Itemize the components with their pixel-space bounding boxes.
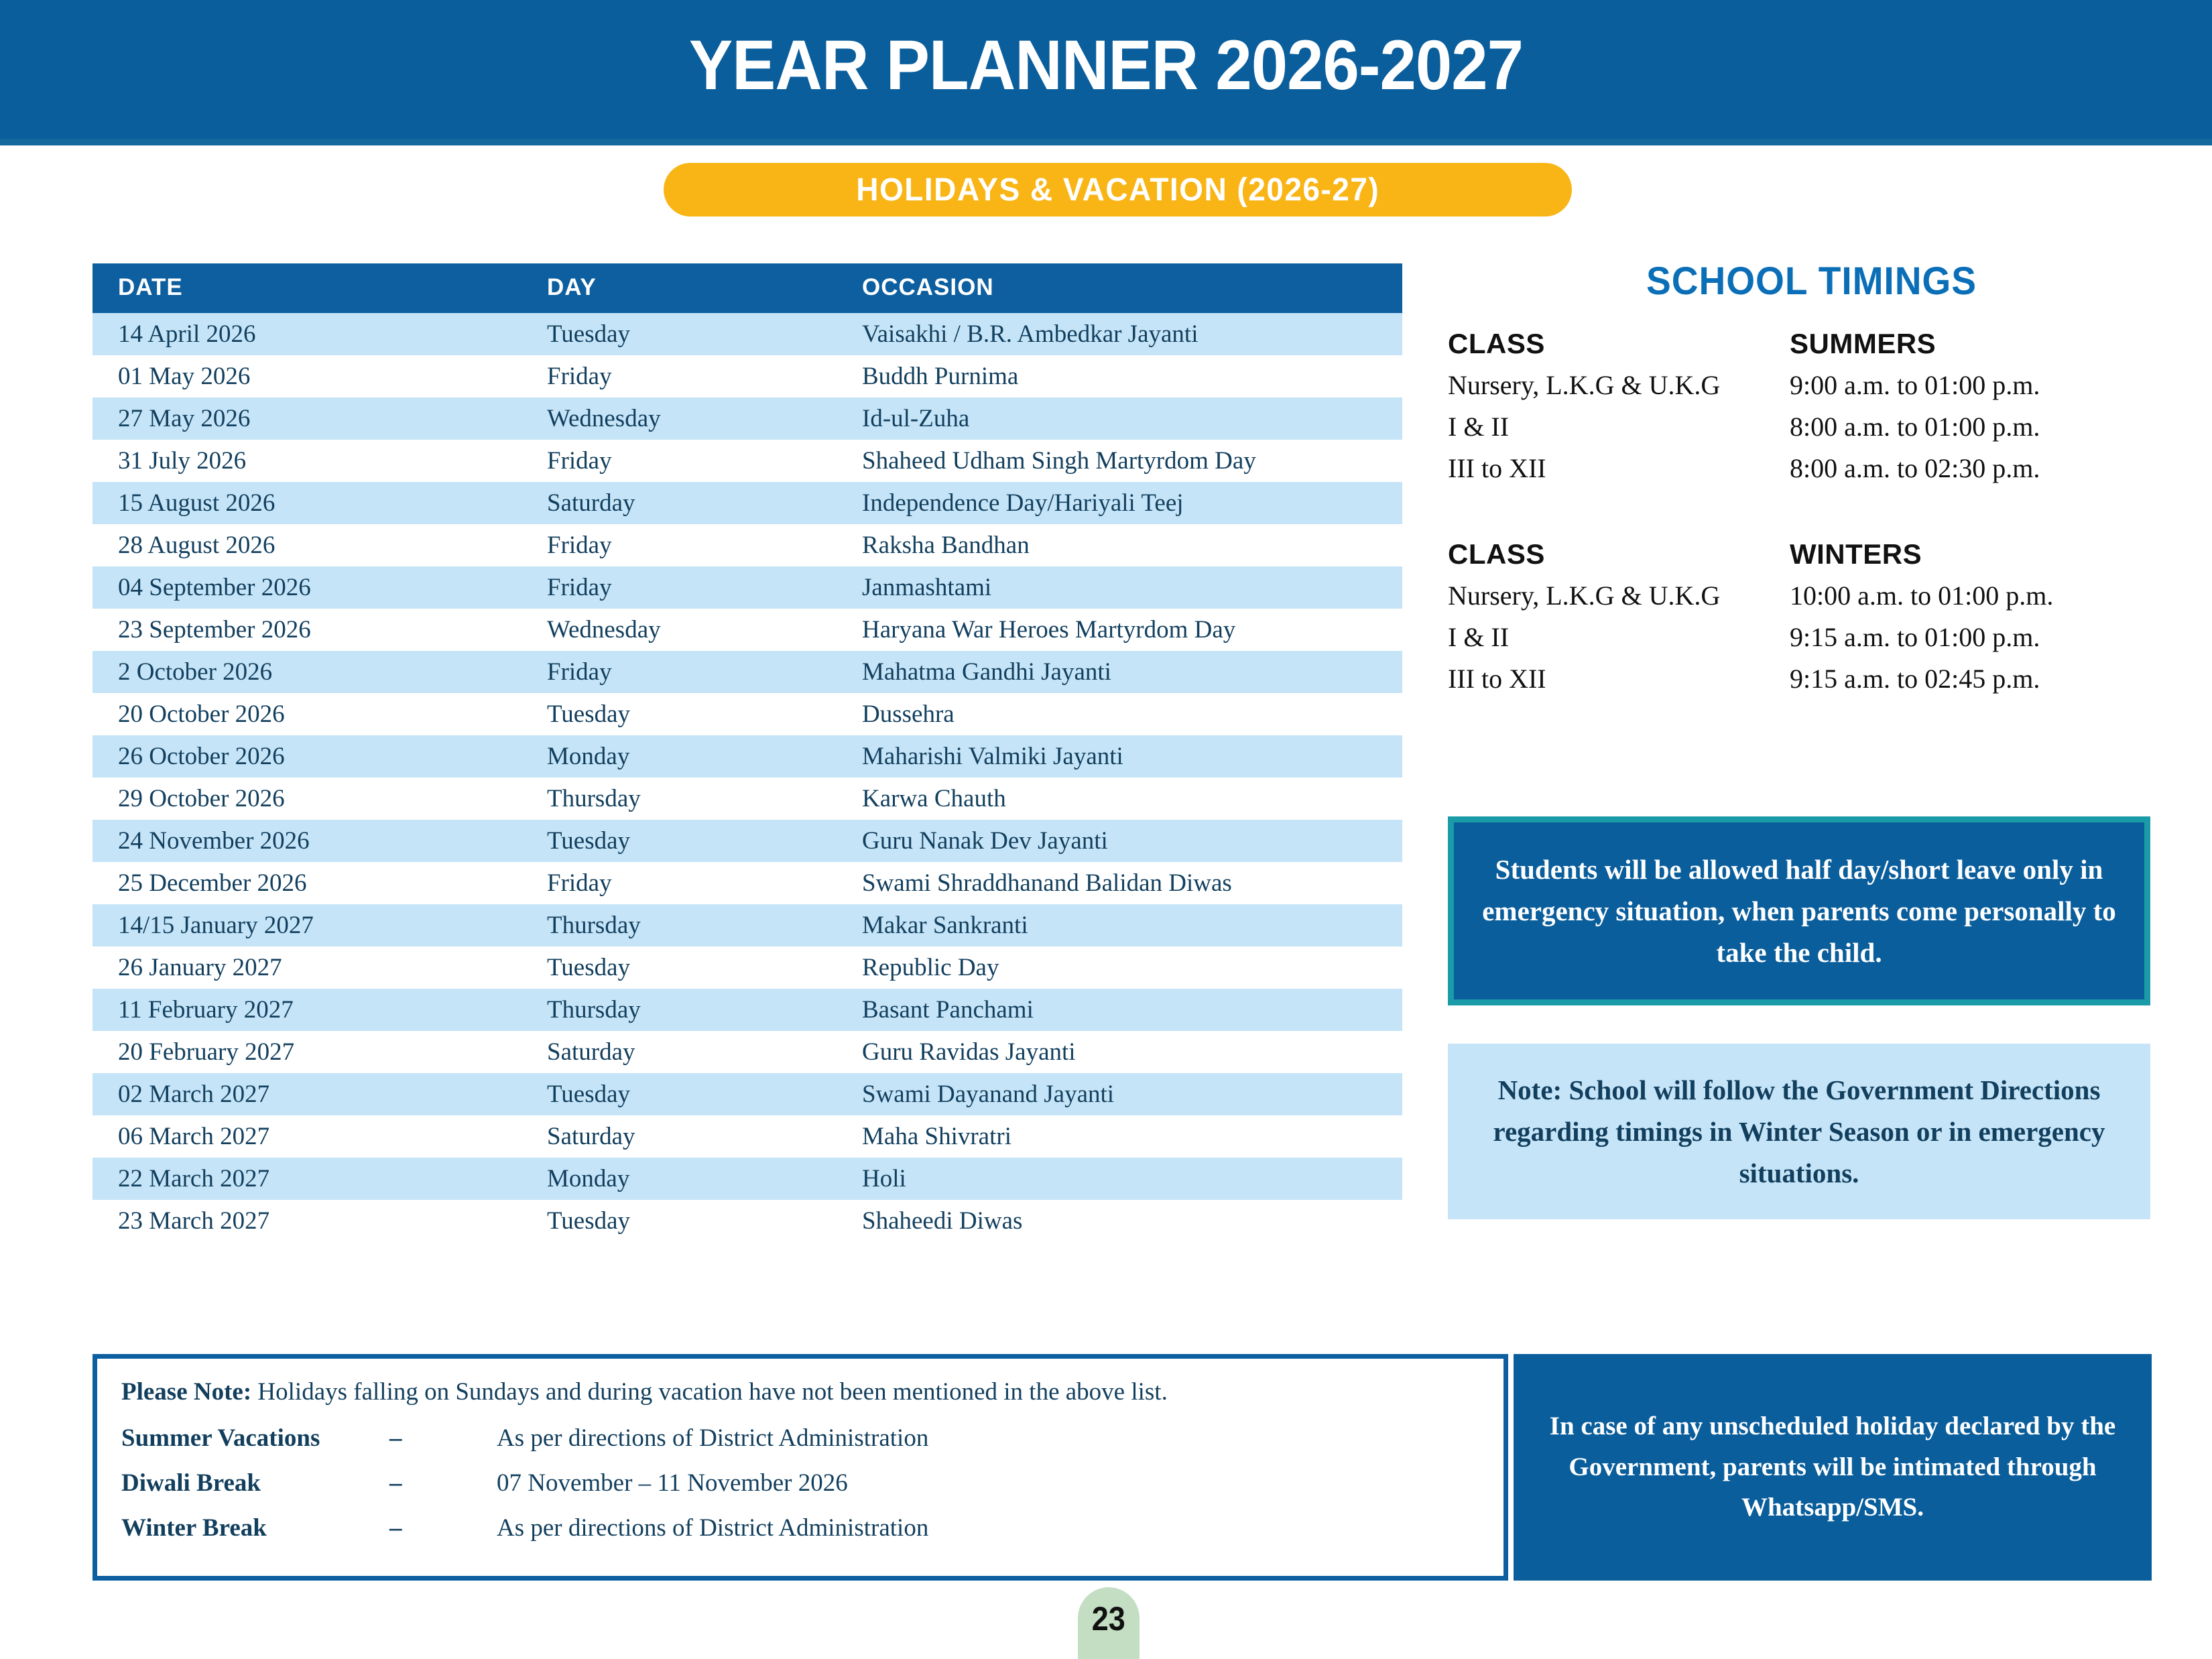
- cell-occasion: Janmashtami: [837, 566, 1402, 609]
- cell-date: 23 March 2027: [93, 1200, 521, 1242]
- cell-day: Thursday: [521, 989, 837, 1031]
- table-row: 22 March 2027MondayHoli: [93, 1158, 1402, 1200]
- cell-day: Monday: [521, 1158, 837, 1200]
- cell-day: Thursday: [521, 778, 837, 820]
- section-pill: HOLIDAYS & VACATION (2026-27): [664, 163, 1572, 217]
- table-row: 15 August 2026SaturdayIndependence Day/H…: [93, 482, 1402, 524]
- cell-day: Tuesday: [521, 946, 837, 989]
- cell-date: 28 August 2026: [93, 524, 521, 566]
- government-note-text: Note: School will follow the Government …: [1479, 1069, 2119, 1194]
- winters-header-row: CLASS WINTERS: [1448, 538, 2175, 580]
- cell-date: 24 November 2026: [93, 820, 521, 862]
- cell-day: Friday: [521, 355, 837, 397]
- summers-row: I & II 8:00 a.m. to 01:00 p.m.: [1448, 411, 2175, 452]
- table-row: 11 February 2027ThursdayBasant Panchami: [93, 989, 1402, 1031]
- half-day-note-box: Students will be allowed half day/short …: [1448, 816, 2150, 1005]
- summers-header-row: CLASS SUMMERS: [1448, 328, 2175, 369]
- table-row: 26 January 2027TuesdayRepublic Day: [93, 946, 1402, 989]
- winters-class-1: I & II: [1448, 622, 1509, 652]
- cell-occasion: Buddh Purnima: [837, 355, 1402, 397]
- cell-day: Tuesday: [521, 693, 837, 735]
- cell-occasion: Holi: [837, 1158, 1402, 1200]
- cell-occasion: Shaheedi Diwas: [837, 1200, 1402, 1242]
- cell-occasion: Swami Dayanand Jayanti: [837, 1073, 1402, 1115]
- summers-class-0: Nursery, L.K.G & U.K.G: [1448, 370, 1720, 400]
- cell-date: 2 October 2026: [93, 651, 521, 693]
- page-title: YEAR PLANNER 2026-2027: [78, 25, 2135, 106]
- cell-day: Friday: [521, 862, 837, 904]
- summers-row: Nursery, L.K.G & U.K.G 9:00 a.m. to 01:0…: [1448, 369, 2175, 411]
- table-row: 28 August 2026FridayRaksha Bandhan: [93, 524, 1402, 566]
- cell-day: Tuesday: [521, 1073, 837, 1115]
- cell-date: 11 February 2027: [93, 989, 521, 1031]
- school-timings-section: SCHOOL TIMINGS CLASS SUMMERS Nursery, L.…: [1448, 259, 2175, 711]
- cell-occasion: Id-ul-Zuha: [837, 397, 1402, 440]
- summers-class-2: III to XII: [1448, 453, 1546, 483]
- cell-occasion: Guru Nanak Dev Jayanti: [837, 820, 1402, 862]
- cell-occasion: Republic Day: [837, 946, 1402, 989]
- cell-date: 23 September 2026: [93, 609, 521, 651]
- page-number: 23: [1092, 1599, 1125, 1638]
- column-header-date: DATE: [93, 263, 521, 313]
- cell-day: Tuesday: [521, 1200, 837, 1242]
- table-row: 04 September 2026FridayJanmashtami: [93, 566, 1402, 609]
- cell-date: 26 January 2027: [93, 946, 521, 989]
- table-row: 26 October 2026MondayMaharishi Valmiki J…: [93, 735, 1402, 778]
- column-header-day: DAY: [521, 263, 837, 313]
- summer-vacations-label: Summer Vacations: [121, 1424, 389, 1453]
- please-note-lead: Please Note: Holidays falling on Sundays…: [121, 1377, 1479, 1406]
- cell-occasion: Shaheed Udham Singh Martyrdom Day: [837, 440, 1402, 482]
- cell-day: Saturday: [521, 1115, 837, 1158]
- cell-date: 26 October 2026: [93, 735, 521, 778]
- summers-time-2: 8:00 a.m. to 02:30 p.m.: [1790, 453, 2040, 483]
- cell-occasion: Maharishi Valmiki Jayanti: [837, 735, 1402, 778]
- cell-date: 29 October 2026: [93, 778, 521, 820]
- cell-day: Saturday: [521, 1031, 837, 1073]
- cell-date: 31 July 2026: [93, 440, 521, 482]
- cell-occasion: Maha Shivratri: [837, 1115, 1402, 1158]
- cell-day: Friday: [521, 524, 837, 566]
- summer-vacations-value: As per directions of District Administra…: [497, 1424, 1479, 1453]
- winters-class-0: Nursery, L.K.G & U.K.G: [1448, 580, 1720, 611]
- table-row: 23 September 2026WednesdayHaryana War He…: [93, 609, 1402, 651]
- summer-vacations-dash: –: [389, 1424, 497, 1453]
- table-header-row: DATE DAY OCCASION: [93, 263, 1402, 313]
- holiday-table-head: DATE DAY OCCASION: [93, 263, 1402, 313]
- cell-day: Thursday: [521, 904, 837, 946]
- school-timings-title: SCHOOL TIMINGS: [1466, 259, 2157, 304]
- table-row: 27 May 2026WednesdayId-ul-Zuha: [93, 397, 1402, 440]
- holiday-table-body: 14 April 2026TuesdayVaisakhi / B.R. Ambe…: [93, 313, 1402, 1242]
- winters-time-2: 9:15 a.m. to 02:45 p.m.: [1790, 664, 2040, 694]
- table-row: 31 July 2026FridayShaheed Udham Singh Ma…: [93, 440, 1402, 482]
- table-row: 14/15 January 2027ThursdayMakar Sankrant…: [93, 904, 1402, 946]
- half-day-note-text: Students will be allowed half day/short …: [1482, 849, 2116, 974]
- table-row: 06 March 2027SaturdayMaha Shivratri: [93, 1115, 1402, 1158]
- table-row: 2 October 2026FridayMahatma Gandhi Jayan…: [93, 651, 1402, 693]
- diwali-break-value: 07 November – 11 November 2026: [497, 1469, 1479, 1497]
- please-note-box: Please Note: Holidays falling on Sundays…: [93, 1354, 1508, 1581]
- holiday-table-container: DATE DAY OCCASION 14 April 2026TuesdayVa…: [93, 263, 1402, 1242]
- timings-spacer: [1448, 501, 2175, 538]
- cell-occasion: Mahatma Gandhi Jayanti: [837, 651, 1402, 693]
- winters-timings-block: CLASS WINTERS Nursery, L.K.G & U.K.G 10:…: [1448, 538, 2175, 704]
- cell-day: Wednesday: [521, 609, 837, 651]
- table-row: 23 March 2027TuesdayShaheedi Diwas: [93, 1200, 1402, 1242]
- winters-season-header: WINTERS: [1790, 538, 1922, 570]
- winters-row: III to XII 9:15 a.m. to 02:45 p.m.: [1448, 663, 2175, 704]
- please-note-row: Diwali Break – 07 November – 11 November…: [121, 1469, 1479, 1497]
- winters-time-0: 10:00 a.m. to 01:00 p.m.: [1790, 580, 2053, 611]
- winters-class-2: III to XII: [1448, 664, 1546, 694]
- section-pill-label: HOLIDAYS & VACATION (2026-27): [856, 172, 1379, 208]
- cell-occasion: Swami Shraddhanand Balidan Diwas: [837, 862, 1402, 904]
- table-row: 14 April 2026TuesdayVaisakhi / B.R. Ambe…: [93, 313, 1402, 355]
- please-note-lead-label: Please Note:: [121, 1378, 251, 1406]
- summers-row: III to XII 8:00 a.m. to 02:30 p.m.: [1448, 452, 2175, 494]
- winter-break-dash: –: [389, 1514, 497, 1542]
- cell-date: 22 March 2027: [93, 1158, 521, 1200]
- cell-day: Friday: [521, 440, 837, 482]
- summers-time-1: 8:00 a.m. to 01:00 p.m.: [1790, 412, 2040, 442]
- cell-day: Friday: [521, 566, 837, 609]
- winters-class-header: CLASS: [1448, 538, 1545, 570]
- cell-day: Wednesday: [521, 397, 837, 440]
- summers-season-header: SUMMERS: [1790, 328, 1936, 359]
- please-note-row: Winter Break – As per directions of Dist…: [121, 1514, 1479, 1542]
- cell-occasion: Makar Sankranti: [837, 904, 1402, 946]
- cell-occasion: Independence Day/Hariyali Teej: [837, 482, 1402, 524]
- cell-date: 14 April 2026: [93, 313, 521, 355]
- winter-break-value: As per directions of District Administra…: [497, 1514, 1479, 1542]
- cell-date: 25 December 2026: [93, 862, 521, 904]
- winters-row: I & II 9:15 a.m. to 01:00 p.m.: [1448, 621, 2175, 663]
- winters-time-1: 9:15 a.m. to 01:00 p.m.: [1790, 622, 2040, 652]
- cell-date: 20 February 2027: [93, 1031, 521, 1073]
- cell-occasion: Dussehra: [837, 693, 1402, 735]
- cell-date: 01 May 2026: [93, 355, 521, 397]
- cell-occasion: Haryana War Heroes Martyrdom Day: [837, 609, 1402, 651]
- summers-timings-block: CLASS SUMMERS Nursery, L.K.G & U.K.G 9:0…: [1448, 328, 2175, 494]
- table-row: 24 November 2026TuesdayGuru Nanak Dev Ja…: [93, 820, 1402, 862]
- summers-class-1: I & II: [1448, 412, 1509, 442]
- cell-day: Monday: [521, 735, 837, 778]
- unscheduled-holiday-note-text: In case of any unscheduled holiday decla…: [1536, 1406, 2129, 1528]
- table-row: 20 February 2027SaturdayGuru Ravidas Jay…: [93, 1031, 1402, 1073]
- please-note-lead-text: Holidays falling on Sundays and during v…: [251, 1378, 1168, 1406]
- cell-day: Tuesday: [521, 820, 837, 862]
- government-note-box: Note: School will follow the Government …: [1448, 1044, 2150, 1219]
- winter-break-label: Winter Break: [121, 1514, 389, 1542]
- cell-date: 20 October 2026: [93, 693, 521, 735]
- please-note-row: Summer Vacations – As per directions of …: [121, 1424, 1479, 1453]
- table-row: 29 October 2026ThursdayKarwa Chauth: [93, 778, 1402, 820]
- cell-date: 02 March 2027: [93, 1073, 521, 1115]
- cell-date: 15 August 2026: [93, 482, 521, 524]
- winters-row: Nursery, L.K.G & U.K.G 10:00 a.m. to 01:…: [1448, 580, 2175, 621]
- holiday-table: DATE DAY OCCASION 14 April 2026TuesdayVa…: [93, 263, 1402, 1242]
- cell-day: Tuesday: [521, 313, 837, 355]
- column-header-occasion: OCCASION: [837, 263, 1402, 313]
- cell-occasion: Raksha Bandhan: [837, 524, 1402, 566]
- cell-occasion: Karwa Chauth: [837, 778, 1402, 820]
- summers-class-header: CLASS: [1448, 328, 1545, 359]
- cell-date: 27 May 2026: [93, 397, 521, 440]
- cell-day: Friday: [521, 651, 837, 693]
- diwali-break-dash: –: [389, 1469, 497, 1497]
- table-row: 20 October 2026TuesdayDussehra: [93, 693, 1402, 735]
- page-number-tab: 23: [1078, 1587, 1140, 1659]
- diwali-break-label: Diwali Break: [121, 1469, 389, 1497]
- table-row: 02 March 2027TuesdaySwami Dayanand Jayan…: [93, 1073, 1402, 1115]
- cell-occasion: Basant Panchami: [837, 989, 1402, 1031]
- cell-date: 14/15 January 2027: [93, 904, 521, 946]
- cell-date: 04 September 2026: [93, 566, 521, 609]
- table-row: 01 May 2026FridayBuddh Purnima: [93, 355, 1402, 397]
- unscheduled-holiday-note-box: In case of any unscheduled holiday decla…: [1514, 1354, 2152, 1581]
- cell-date: 06 March 2027: [93, 1115, 521, 1158]
- cell-occasion: Guru Ravidas Jayanti: [837, 1031, 1402, 1073]
- summers-time-0: 9:00 a.m. to 01:00 p.m.: [1790, 370, 2040, 400]
- cell-day: Saturday: [521, 482, 837, 524]
- cell-occasion: Vaisakhi / B.R. Ambedkar Jayanti: [837, 313, 1402, 355]
- table-row: 25 December 2026FridaySwami Shraddhanand…: [93, 862, 1402, 904]
- header-band-underline: [0, 139, 2212, 145]
